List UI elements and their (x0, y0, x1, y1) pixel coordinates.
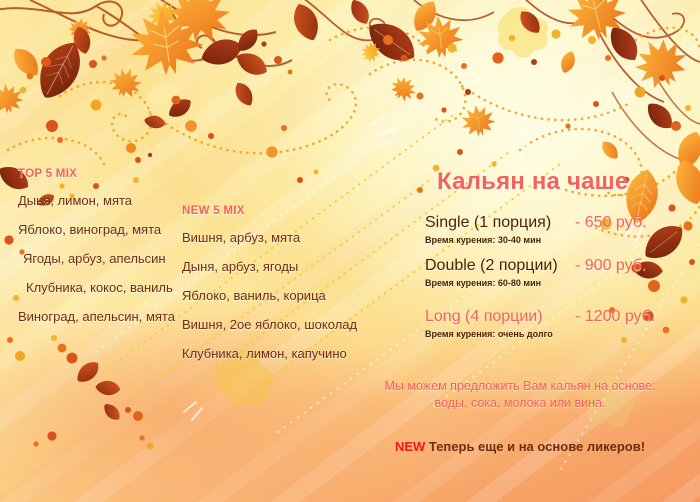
price-value: - 650 руб. (575, 214, 646, 232)
price-row-long: Long (4 порции) - 1200 руб. Время курени… (425, 308, 680, 339)
new5-mix-block: NEW 5 MIX Вишня, арбуз, мята Дыня, арбуз… (182, 205, 397, 375)
new5-item: Вишня, арбуз, мята (182, 230, 397, 245)
top5-mix-block: TOP 5 MIX Дыня, лимон, мята Яблоко, вино… (18, 168, 208, 338)
price-row-double: Double (2 порции) - 900 руб. Время курен… (425, 257, 680, 288)
new5-item: Яблоко, ваниль, корица (182, 288, 397, 303)
price-value: - 900 руб. (575, 257, 646, 275)
new-offer-text: Теперь еще и на основе ликеров! (425, 439, 645, 454)
top5-heading: TOP 5 MIX (18, 168, 208, 180)
note-line-1: Мы можем предложить Вам кальян на основе… (350, 378, 690, 395)
price-row-single: Single (1 порция) - 650 руб. Время курен… (425, 214, 680, 245)
poster-canvas: TOP 5 MIX Дыня, лимон, мята Яблоко, вино… (0, 0, 700, 502)
top5-item: Яблоко, виноград, мята (18, 222, 208, 237)
new5-heading: NEW 5 MIX (182, 205, 397, 217)
price-name: Double (2 порции) (425, 257, 575, 275)
price-panel: Кальян на чаше Single (1 порция) - 650 р… (425, 168, 680, 351)
bottom-notes: Мы можем предложить Вам кальян на основе… (350, 378, 690, 454)
top5-item: Клубника, кокос, ваниль (26, 280, 208, 295)
top5-item: Дыня, лимон, мята (18, 193, 208, 208)
new5-item: Вишня, 2ое яблоко, шоколад (182, 317, 397, 332)
price-note: Время курения: 60-80 мин (425, 278, 680, 288)
price-panel-title: Кальян на чаше (437, 168, 680, 196)
price-value: - 1200 руб. (575, 308, 655, 326)
note-new-offer: NEW Теперь еще и на основе ликеров! (350, 439, 690, 454)
note-line-2: воды, сока, молока или вина. (350, 395, 690, 412)
top5-item: Ягоды, арбуз, апельсин (23, 251, 208, 266)
new-badge: NEW (395, 439, 425, 454)
price-note: Время курения: 30-40 мин (425, 235, 680, 245)
new5-item: Дыня, арбуз, ягоды (182, 259, 397, 274)
price-note: Время курения: очень долго (425, 329, 680, 339)
top5-item: Виноград, апельсин, мята (18, 309, 208, 324)
price-name: Long (4 порции) (425, 308, 575, 326)
new5-item: Клубника, лимон, капучино (182, 346, 397, 361)
price-name: Single (1 порция) (425, 214, 575, 232)
